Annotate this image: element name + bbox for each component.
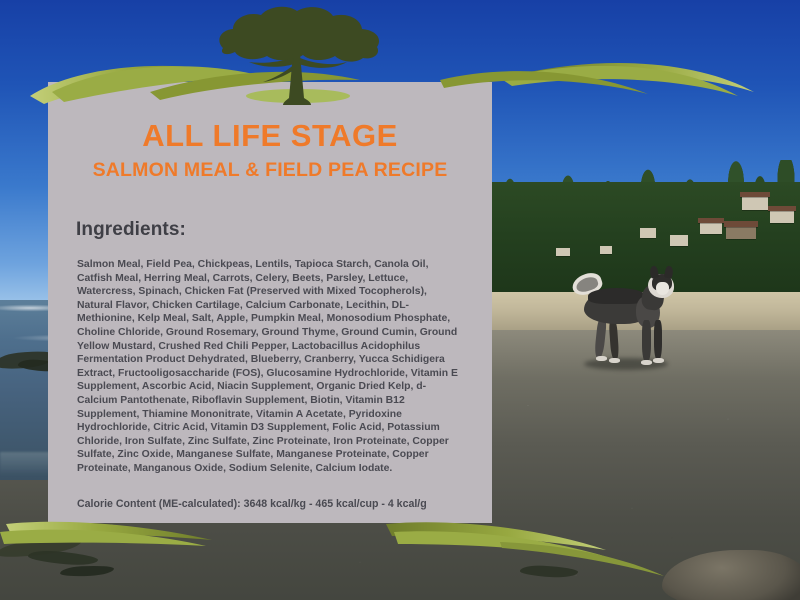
- house: [700, 222, 722, 234]
- dog-paw: [609, 358, 620, 363]
- house: [770, 210, 794, 223]
- ingredients-list: Salmon Meal, Field Pea, Chickpeas, Lenti…: [62, 241, 478, 476]
- dog-ear: [649, 265, 659, 278]
- house: [726, 226, 756, 239]
- ingredients-heading: Ingredients:: [62, 181, 478, 241]
- card-content: ALL LIFE STAGE SALMON MEAL & FIELD PEA R…: [48, 82, 492, 511]
- dog-rear-leg: [609, 320, 620, 360]
- ingredient-card: ALL LIFE STAGE SALMON MEAL & FIELD PEA R…: [48, 82, 492, 523]
- house-roof: [768, 206, 796, 211]
- dog-paw: [596, 356, 607, 361]
- dog-rear-leg: [594, 318, 607, 359]
- house: [640, 228, 656, 238]
- house: [742, 196, 768, 210]
- house-roof: [724, 221, 758, 227]
- dog-front-leg: [654, 320, 662, 360]
- dog-paw: [653, 358, 664, 363]
- house: [670, 235, 688, 246]
- page-title: ALL LIFE STAGE: [62, 82, 478, 153]
- dog-muzzle: [656, 282, 669, 295]
- house: [600, 246, 612, 254]
- house: [556, 248, 570, 256]
- recipe-subtitle: SALMON MEAL & FIELD PEA RECIPE: [62, 153, 478, 181]
- dog-paw: [641, 360, 652, 365]
- calorie-content: Calorie Content (ME-calculated): 3648 kc…: [62, 475, 478, 511]
- poster-stage: ALL LIFE STAGE SALMON MEAL & FIELD PEA R…: [0, 0, 800, 600]
- house-roof: [740, 192, 770, 197]
- dog-front-leg: [642, 320, 651, 362]
- house-roof: [698, 218, 724, 223]
- dog-ear: [664, 265, 674, 278]
- husky-dog: [566, 262, 678, 380]
